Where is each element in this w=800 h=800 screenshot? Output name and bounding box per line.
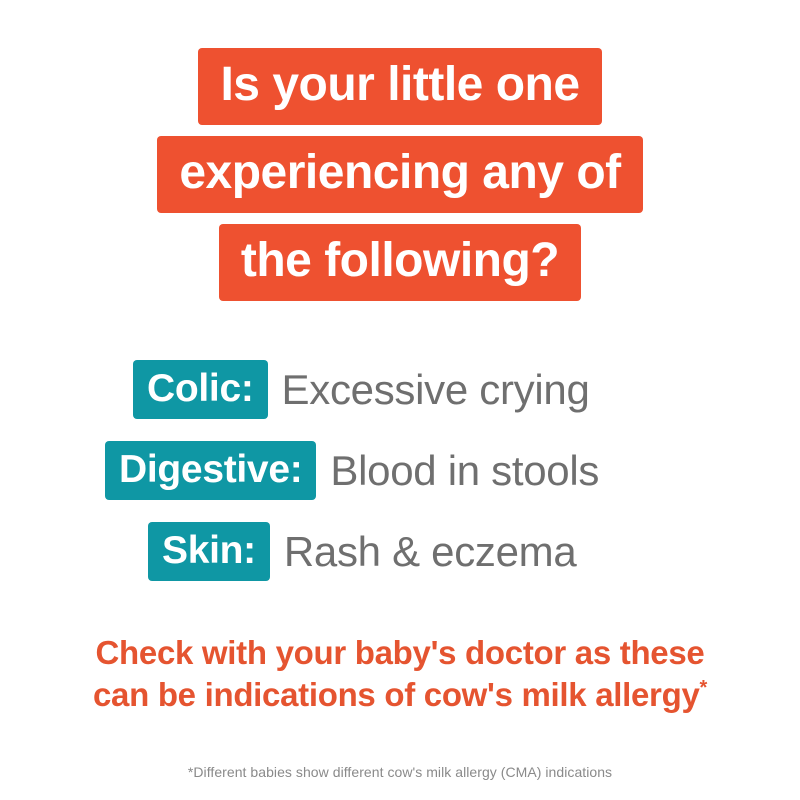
headline-line-2: experiencing any of <box>157 136 642 213</box>
call-to-action: Check with your baby's doctor as these c… <box>0 632 800 716</box>
cta-line-2-wrap: can be indications of cow's milk allergy… <box>0 674 800 716</box>
symptom-row-skin: Skin: Rash & eczema <box>0 522 800 581</box>
symptom-badge-digestive: Digestive: <box>105 441 316 500</box>
symptom-list: Colic: Excessive crying Digestive: Blood… <box>0 360 800 581</box>
footnote-disclaimer: *Different babies show different cow's m… <box>0 764 800 780</box>
cta-line-1: Check with your baby's doctor as these <box>0 632 800 674</box>
cta-line-2: can be indications of cow's milk allergy <box>93 676 700 713</box>
headline-block: Is your little one experiencing any of t… <box>0 48 800 301</box>
symptom-description-skin: Rash & eczema <box>284 531 577 573</box>
headline-line-1: Is your little one <box>198 48 601 125</box>
symptom-row-digestive: Digestive: Blood in stools <box>0 441 800 500</box>
symptom-badge-skin: Skin: <box>148 522 270 581</box>
poster-canvas: Is your little one experiencing any of t… <box>0 0 800 800</box>
headline-line-3: the following? <box>219 224 581 301</box>
symptom-description-colic: Excessive crying <box>282 369 590 411</box>
symptom-badge-colic: Colic: <box>133 360 268 419</box>
symptom-description-digestive: Blood in stools <box>330 450 599 492</box>
symptom-row-colic: Colic: Excessive crying <box>0 360 800 419</box>
cta-asterisk: * <box>700 677 707 699</box>
